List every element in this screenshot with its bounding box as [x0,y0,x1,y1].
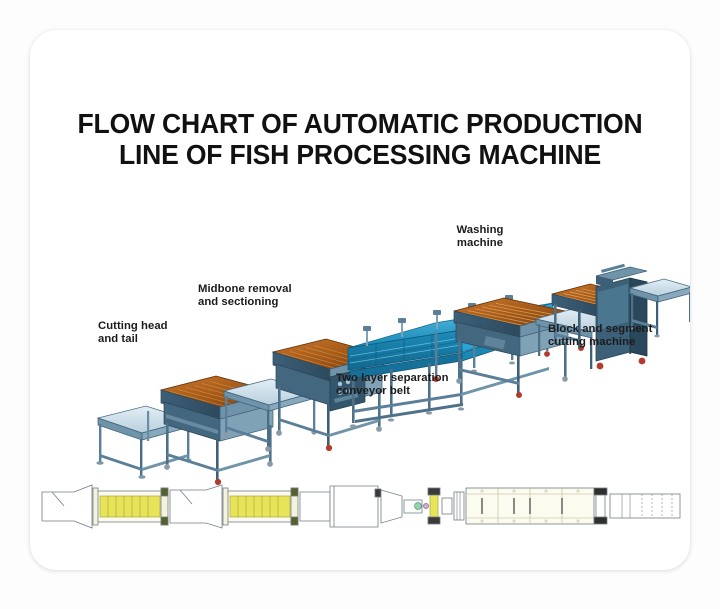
technical-plan-drawing [42,485,680,528]
title-line-2: LINE OF FISH PROCESSING MACHINE [42,139,679,170]
station-block-segment-cutting [552,264,647,370]
label-cutting-head-and-tail: Cutting head and tail [98,320,168,346]
label-two-layer-conveyor: Two layer separation conveyor belt [336,372,449,398]
label-midbone-removal: Midbone removal and sectioning [198,283,292,309]
station-cutting-head-tail [161,376,275,485]
label-block-segment-cutting: Block and segment cutting machine [548,323,652,349]
title-line-1: FLOW CHART OF AUTOMATIC PRODUCTION [42,108,679,139]
station-infeed-table [96,406,191,479]
label-washing-machine: Washing machine [430,224,530,250]
diagram-card: FLOW CHART OF AUTOMATIC PRODUCTION LINE … [30,30,690,570]
transfer-table-1 [223,379,316,452]
page-title: FLOW CHART OF AUTOMATIC PRODUCTION LINE … [42,108,679,170]
station-two-layer-conveyor [348,295,553,428]
